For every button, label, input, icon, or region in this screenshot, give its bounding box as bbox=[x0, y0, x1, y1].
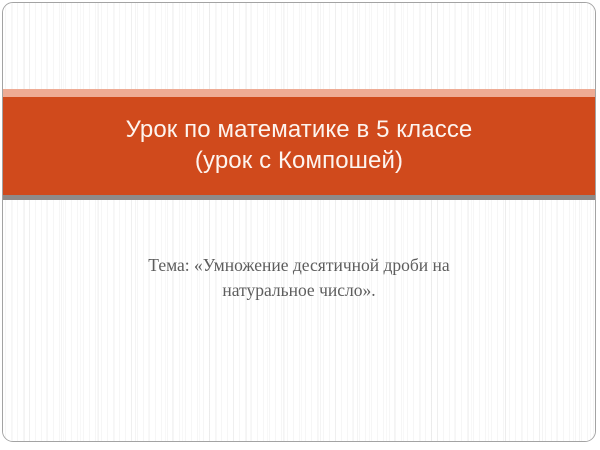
slide-subtitle-line-2: натуральное число». bbox=[73, 278, 525, 303]
slide-canvas: Урок по математике в 5 классе (урок с Ко… bbox=[2, 2, 596, 442]
banner-top-accent-stripe bbox=[3, 89, 595, 97]
pinstripe-background-texture bbox=[3, 3, 595, 441]
slide-title-line-2: (урок с Компошей) bbox=[195, 146, 403, 177]
slide-subtitle-line-1: Тема: «Умножение десятичной дроби на bbox=[73, 253, 525, 278]
slide-subtitle: Тема: «Умножение десятичной дроби на нат… bbox=[73, 253, 525, 304]
slide-title: Урок по математике в 5 классе (урок с Ко… bbox=[3, 97, 595, 195]
title-banner: Урок по математике в 5 классе (урок с Ко… bbox=[3, 89, 595, 200]
slide-title-line-1: Урок по математике в 5 классе bbox=[126, 115, 473, 146]
banner-bottom-accent-stripe bbox=[3, 195, 595, 200]
